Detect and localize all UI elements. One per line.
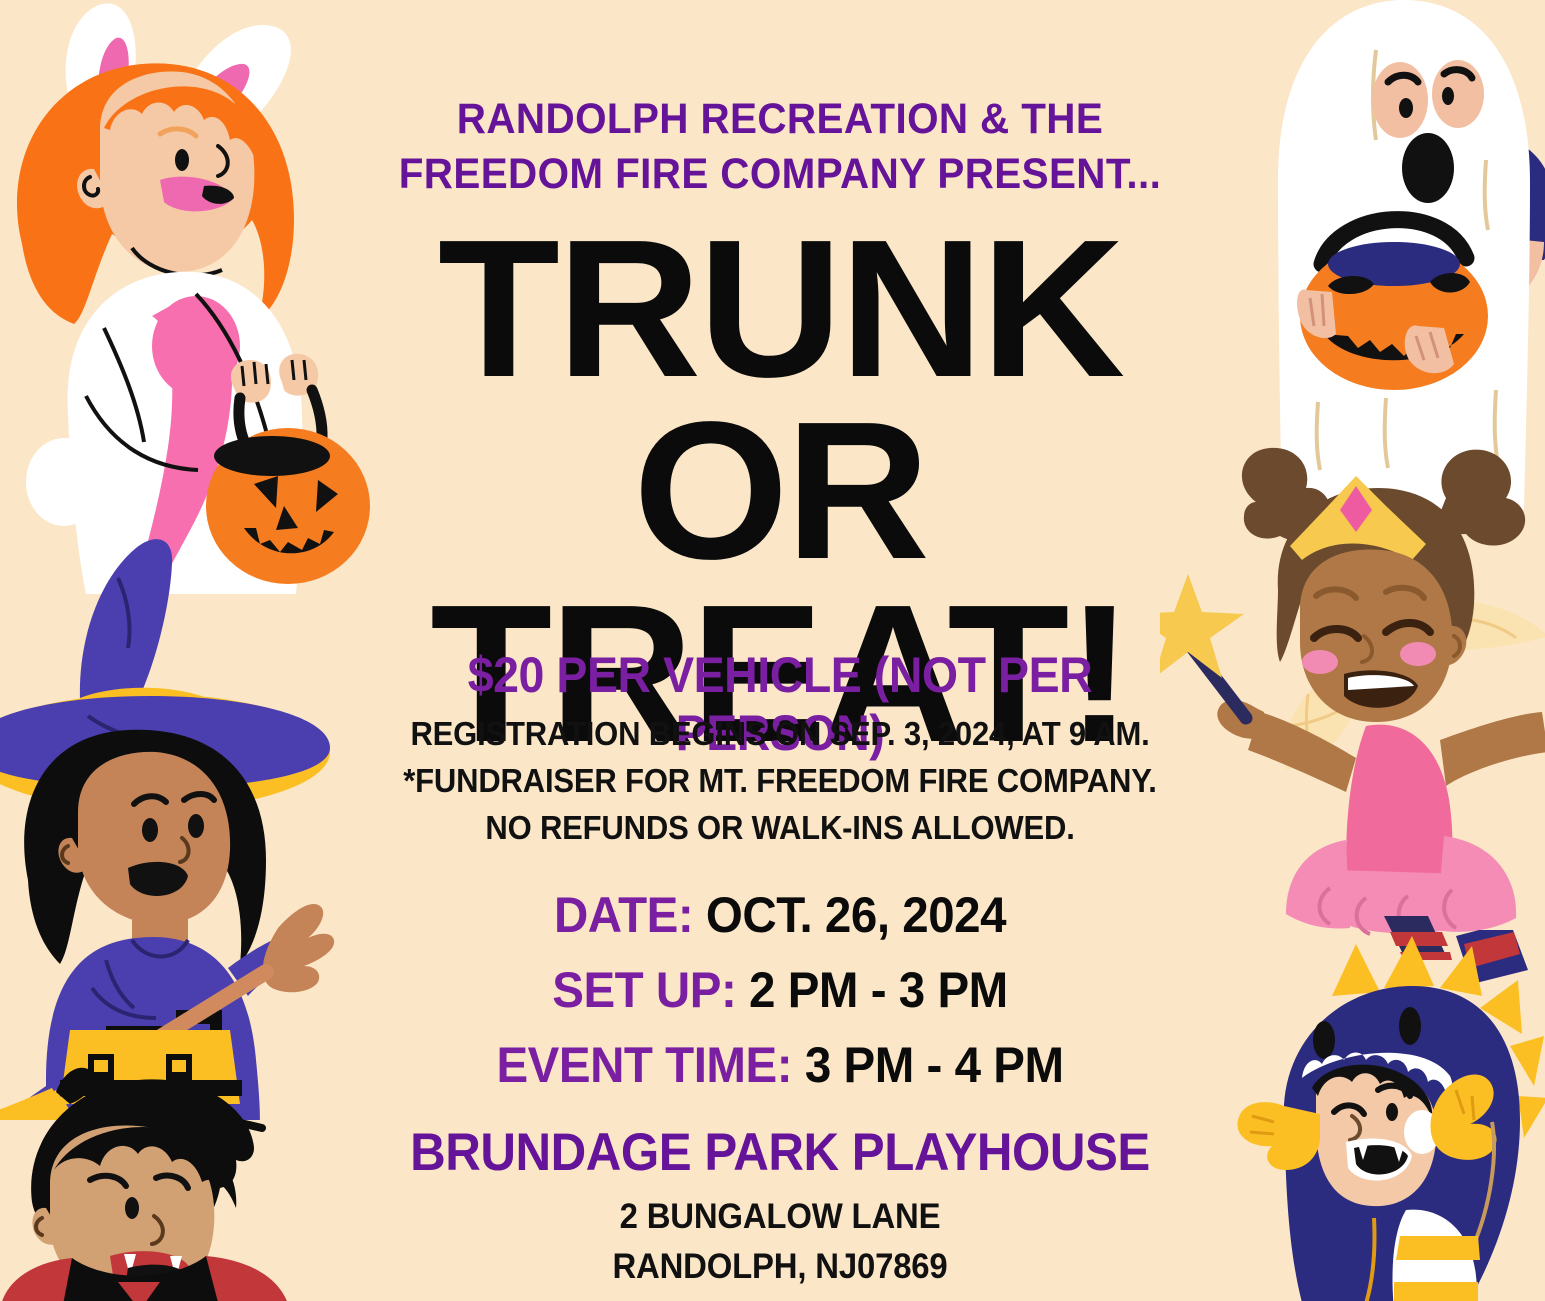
schedule-value-setup: 2 PM - 3 PM xyxy=(749,962,1008,1018)
presenter-line-1: RANDOLPH RECREATION & THE xyxy=(357,92,1203,147)
schedule-value-event-time: 3 PM - 4 PM xyxy=(805,1037,1064,1093)
schedule-label-setup: SET UP: xyxy=(552,962,736,1018)
note-registration: REGISTRATION BEGINS ON SEP. 3, 2024, AT … xyxy=(357,710,1203,757)
schedule-block: DATE: OCT. 26, 2024 SET UP: 2 PM - 3 PM … xyxy=(353,878,1208,1103)
venue-name: BRUNDAGE PARK PLAYHOUSE xyxy=(362,1122,1199,1183)
address-street: 2 BUNGALOW LANE xyxy=(357,1192,1203,1242)
title-line-1: TRUNK OR xyxy=(321,218,1239,583)
presenter-line-2: FREEDOM FIRE COMPANY PRESENT... xyxy=(357,147,1203,202)
venue-address: 2 BUNGALOW LANE RANDOLPH, NJ07869 xyxy=(357,1192,1203,1291)
registration-notes: REGISTRATION BEGINS ON SEP. 3, 2024, AT … xyxy=(357,710,1203,852)
schedule-row-event-time: EVENT TIME: 3 PM - 4 PM xyxy=(353,1028,1208,1103)
schedule-value-date: OCT. 26, 2024 xyxy=(706,887,1006,943)
schedule-label-event-time: EVENT TIME: xyxy=(496,1037,792,1093)
note-refunds: NO REFUNDS OR WALK-INS ALLOWED. xyxy=(357,804,1203,851)
ghost-costume-kid-illustration xyxy=(1258,0,1545,510)
flyer-text-column: RANDOLPH RECREATION & THE FREEDOM FIRE C… xyxy=(330,0,1230,1301)
presenter-heading: RANDOLPH RECREATION & THE FREEDOM FIRE C… xyxy=(357,92,1203,202)
trunk-or-treat-flyer: RANDOLPH RECREATION & THE FREEDOM FIRE C… xyxy=(0,0,1545,1301)
note-fundraiser: *FUNDRAISER FOR MT. FREEDOM FIRE COMPANY… xyxy=(357,757,1203,804)
dinosaur-costume-kid-illustration xyxy=(1228,930,1545,1301)
schedule-label-date: DATE: xyxy=(554,887,693,943)
address-city-state-zip: RANDOLPH, NJ07869 xyxy=(357,1242,1203,1292)
vampire-costume-boy-illustration xyxy=(0,1030,350,1301)
schedule-row-setup: SET UP: 2 PM - 3 PM xyxy=(353,953,1208,1028)
schedule-row-date: DATE: OCT. 26, 2024 xyxy=(353,878,1208,953)
